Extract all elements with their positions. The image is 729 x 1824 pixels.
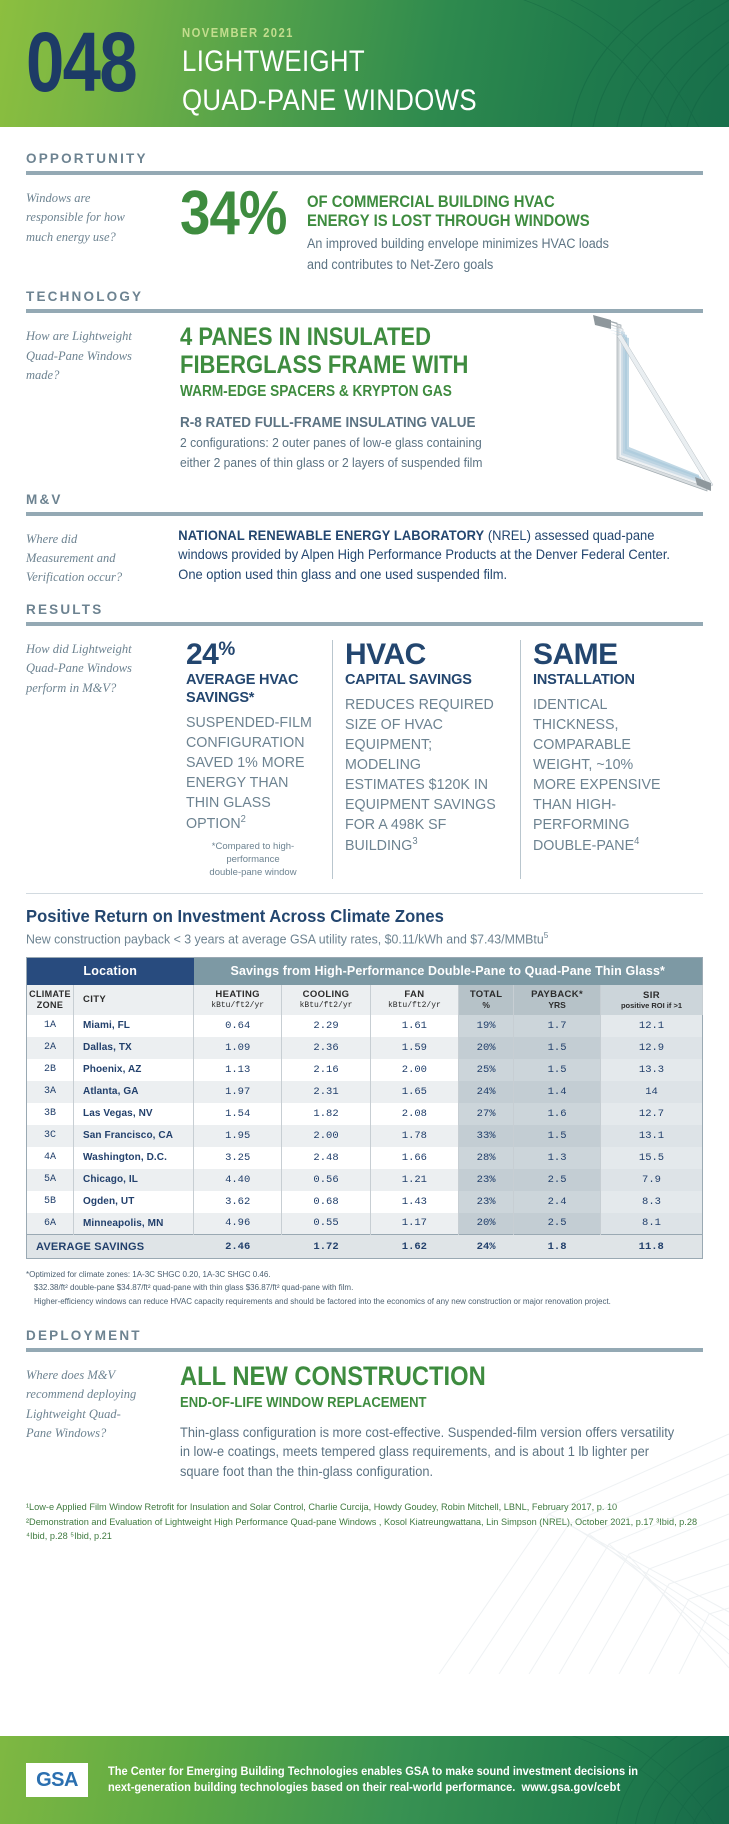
cell-heating: 3.62 xyxy=(194,1191,282,1213)
deployment-section: Where does M&V recommend deploying Light… xyxy=(26,1362,703,1482)
cell-climate-zone: 2A xyxy=(27,1037,74,1059)
deployment-question: Where does M&V recommend deploying Light… xyxy=(26,1362,146,1482)
table-body: 1AMiami, FL0.642.291.6119%1.712.12ADalla… xyxy=(27,1015,703,1235)
average-label: AVERAGE SAVINGS xyxy=(27,1235,194,1259)
cell-cooling: 0.55 xyxy=(282,1213,370,1235)
technology-question: How are Lightweight Quad-Pane Windows ma… xyxy=(26,323,146,472)
cell-payback: 1.3 xyxy=(514,1147,601,1169)
cell-payback: 1.4 xyxy=(514,1081,601,1103)
technology-section: How are Lightweight Quad-Pane Windows ma… xyxy=(26,323,703,472)
opportunity-sub-line1: An improved building envelope minimizes … xyxy=(307,235,609,252)
cell-fan: 1.21 xyxy=(370,1169,458,1191)
cell-city: Dallas, TX xyxy=(74,1037,194,1059)
average-heating: 2.46 xyxy=(194,1235,282,1259)
table-column-header-row: CLIMATE ZONE CITY HEATINGkBtu/ft2/yr COO… xyxy=(27,985,703,1015)
cell-fan: 1.78 xyxy=(370,1125,458,1147)
cell-payback: 1.6 xyxy=(514,1103,601,1125)
cell-city: Washington, D.C. xyxy=(74,1147,194,1169)
cell-fan: 1.43 xyxy=(370,1191,458,1213)
cell-payback: 1.7 xyxy=(514,1015,601,1037)
cell-total: 20% xyxy=(459,1213,514,1235)
deployment-body: Thin-glass configuration is more cost-ef… xyxy=(180,1423,677,1482)
technology-detail-line2: either 2 panes of thin glass or 2 layers… xyxy=(180,454,666,472)
section-label-deployment: DEPLOYMENT xyxy=(26,1328,703,1343)
cell-payback: 2.4 xyxy=(514,1191,601,1213)
results-subtitle-1a: AVERAGE HVAC xyxy=(186,672,320,688)
cell-cooling: 1.82 xyxy=(282,1103,370,1125)
cell-cooling: 2.31 xyxy=(282,1081,370,1103)
table-col-sir: SIRpositive ROI if >1 xyxy=(601,985,703,1015)
table-col-heating: HEATINGkBtu/ft2/yr xyxy=(194,985,282,1015)
footer-line1: The Center for Emerging Building Technol… xyxy=(108,1764,638,1780)
cell-climate-zone: 3C xyxy=(27,1125,74,1147)
table-group-header-row: Location Savings from High-Performance D… xyxy=(27,957,703,985)
results-column-savings: 24% AVERAGE HVAC SAVINGS* SUSPENDED-FILM… xyxy=(174,640,332,880)
cell-climate-zone: 3A xyxy=(27,1081,74,1103)
cell-total: 20% xyxy=(459,1037,514,1059)
cell-climate-zone: 2B xyxy=(27,1059,74,1081)
cell-total: 33% xyxy=(459,1125,514,1147)
footer-line2: next-generation building technologies ba… xyxy=(108,1780,638,1796)
results-text-3: IDENTICAL THICKNESS, COMPARABLE WEIGHT, … xyxy=(533,695,676,856)
section-label-results: RESULTS xyxy=(26,602,703,617)
cell-heating: 1.09 xyxy=(194,1037,282,1059)
results-subtitle-3a: INSTALLATION xyxy=(533,672,683,688)
gsa-logo-text: GSA xyxy=(36,1769,78,1792)
technology-rvalue: R-8 RATED FULL-FRAME INSULATING VALUE xyxy=(180,414,651,431)
footer-url[interactable]: www.gsa.gov/cebt xyxy=(521,1782,620,1794)
table-row: 4AWashington, D.C.3.252.481.6628%1.315.5 xyxy=(27,1147,703,1169)
cell-cooling: 2.00 xyxy=(282,1125,370,1147)
issue-number: 048 xyxy=(26,20,136,104)
average-payback: 1.8 xyxy=(514,1235,601,1259)
cell-heating: 1.95 xyxy=(194,1125,282,1147)
table-title: Positive Return on Investment Across Cli… xyxy=(26,906,669,927)
cell-city: Las Vegas, NV xyxy=(74,1103,194,1125)
table-col-climate-zone: CLIMATE ZONE xyxy=(27,985,74,1015)
cell-fan: 2.00 xyxy=(370,1059,458,1081)
cell-total: 27% xyxy=(459,1103,514,1125)
results-text-1: SUSPENDED-FILM CONFIGURATION SAVED 1% MO… xyxy=(186,713,313,834)
page-content: OPPORTUNITY Windows are responsible for … xyxy=(0,127,729,879)
opportunity-headline-line2: ENERGY IS LOST THROUGH WINDOWS xyxy=(307,212,599,231)
cell-fan: 2.08 xyxy=(370,1103,458,1125)
roi-table: Location Savings from High-Performance D… xyxy=(26,957,703,1260)
cell-total: 28% xyxy=(459,1147,514,1169)
cell-sir: 7.9 xyxy=(601,1169,703,1191)
results-column-hvac: HVAC CAPITAL SAVINGS REDUCES REQUIRED SI… xyxy=(332,640,520,880)
cell-city: Phoenix, AZ xyxy=(74,1059,194,1081)
cell-heating: 1.97 xyxy=(194,1081,282,1103)
results-text-2: REDUCES REQUIRED SIZE OF HVAC EQUIPMENT;… xyxy=(345,695,500,856)
section-rule xyxy=(26,512,703,516)
cell-sir: 8.3 xyxy=(601,1191,703,1213)
opportunity-stat: 34% xyxy=(180,185,287,242)
table-row: 3BLas Vegas, NV1.541.822.0827%1.612.7 xyxy=(27,1103,703,1125)
cell-cooling: 2.36 xyxy=(282,1037,370,1059)
page-header: 048 NOVEMBER 2021 LIGHTWEIGHT QUAD-PANE … xyxy=(0,0,729,127)
cell-heating: 4.40 xyxy=(194,1169,282,1191)
cell-payback: 1.5 xyxy=(514,1059,601,1081)
cell-sir: 14 xyxy=(601,1081,703,1103)
cell-fan: 1.66 xyxy=(370,1147,458,1169)
cell-fan: 1.61 xyxy=(370,1015,458,1037)
technology-subhead: WARM-EDGE SPACERS & KRYPTON GAS xyxy=(180,383,640,401)
cell-total: 24% xyxy=(459,1081,514,1103)
cell-climate-zone: 6A xyxy=(27,1213,74,1235)
cell-climate-zone: 4A xyxy=(27,1147,74,1169)
results-note-1: *Compared to high-performance double-pan… xyxy=(186,841,320,879)
cell-climate-zone: 5A xyxy=(27,1169,74,1191)
mv-section: Where did Measurement and Verification o… xyxy=(26,526,703,588)
table-col-payback: PAYBACK*YRS xyxy=(514,985,601,1015)
table-col-cooling: COOLINGkBtu/ft2/yr xyxy=(282,985,370,1015)
cell-heating: 1.13 xyxy=(194,1059,282,1081)
cell-sir: 13.3 xyxy=(601,1059,703,1081)
footer-text: The Center for Emerging Building Technol… xyxy=(108,1764,638,1797)
technology-headline-line2: FIBERGLASS FRAME WITH xyxy=(180,351,640,379)
results-subtitle-2a: CAPITAL SAVINGS xyxy=(345,672,508,688)
table-row: 1AMiami, FL0.642.291.6119%1.712.1 xyxy=(27,1015,703,1037)
average-cooling: 1.72 xyxy=(282,1235,370,1259)
cell-total: 25% xyxy=(459,1059,514,1081)
deployment-subhead: END-OF-LIFE WINDOW REPLACEMENT xyxy=(180,1395,651,1411)
table-footnote-2: $32.38/ft² double-pane $34.87/ft² quad-p… xyxy=(26,1281,703,1294)
page-footer: GSA The Center for Emerging Building Tec… xyxy=(0,1736,729,1824)
cell-city: Ogden, UT xyxy=(74,1191,194,1213)
page-title-line2: QUAD-PANE WINDOWS xyxy=(182,84,477,118)
cell-sir: 8.1 xyxy=(601,1213,703,1235)
table-row: 6AMinneapolis, MN4.960.551.1720%2.58.1 xyxy=(27,1213,703,1235)
cell-sir: 13.1 xyxy=(601,1125,703,1147)
opportunity-sub-line2: and contributes to Net-Zero goals xyxy=(307,256,609,273)
results-column-installation: SAME INSTALLATION IDENTICAL THICKNESS, C… xyxy=(520,640,695,880)
publication-date: NOVEMBER 2021 xyxy=(182,26,491,40)
cell-payback: 2.5 xyxy=(514,1169,601,1191)
table-col-fan: FANkBtu/ft2/yr xyxy=(370,985,458,1015)
table-head: Location Savings from High-Performance D… xyxy=(27,957,703,1015)
table-col-total: TOTAL% xyxy=(459,985,514,1015)
section-label-technology: TECHNOLOGY xyxy=(26,289,703,304)
average-total: 24% xyxy=(459,1235,514,1259)
table-row: 3AAtlanta, GA1.972.311.6524%1.414 xyxy=(27,1081,703,1103)
cell-total: 19% xyxy=(459,1015,514,1037)
cell-sir: 12.9 xyxy=(601,1037,703,1059)
table-subtitle: New construction payback < 3 years at av… xyxy=(26,930,669,946)
reference-2: ²Demonstration and Evaluation of Lightwe… xyxy=(26,1515,703,1545)
opportunity-headline-line1: OF COMMERCIAL BUILDING HVAC xyxy=(307,193,599,212)
references-list: ¹Low-e Applied Film Window Retrofit for … xyxy=(0,1500,729,1545)
cell-cooling: 0.68 xyxy=(282,1191,370,1213)
cell-payback: 1.5 xyxy=(514,1037,601,1059)
roi-table-section: Positive Return on Investment Across Cli… xyxy=(0,894,729,1307)
table-row: 3CSan Francisco, CA1.952.001.7833%1.513.… xyxy=(27,1125,703,1147)
cell-climate-zone: 3B xyxy=(27,1103,74,1125)
cell-cooling: 0.56 xyxy=(282,1169,370,1191)
section-label-opportunity: OPPORTUNITY xyxy=(26,151,703,166)
cell-sir: 15.5 xyxy=(601,1147,703,1169)
mv-paragraph: NATIONAL RENEWABLE ENERGY LABORATORY (NR… xyxy=(146,526,675,585)
infographic-page: 048 NOVEMBER 2021 LIGHTWEIGHT QUAD-PANE … xyxy=(0,0,729,1824)
section-rule xyxy=(26,622,703,626)
table-group-header-location: Location xyxy=(27,957,194,985)
cell-heating: 0.64 xyxy=(194,1015,282,1037)
cell-sir: 12.7 xyxy=(601,1103,703,1125)
results-section: How did Lightweight Quad-Pane Windows pe… xyxy=(26,636,703,880)
technology-headline-line1: 4 PANES IN INSULATED xyxy=(180,323,640,351)
average-sir: 11.8 xyxy=(601,1235,703,1259)
results-stat-1: 24% xyxy=(186,640,320,670)
gsa-logo: GSA xyxy=(26,1763,88,1797)
deployment-wrapper: DEPLOYMENT Where does M&V recommend depl… xyxy=(0,1308,729,1482)
cell-heating: 3.25 xyxy=(194,1147,282,1169)
cell-sir: 12.1 xyxy=(601,1015,703,1037)
table-footnotes: *Optimized for climate zones: 1A-3C SHGC… xyxy=(26,1268,703,1308)
reference-1: ¹Low-e Applied Film Window Retrofit for … xyxy=(26,1500,703,1515)
table-row: 5BOgden, UT3.620.681.4323%2.48.3 xyxy=(27,1191,703,1213)
cell-cooling: 2.29 xyxy=(282,1015,370,1037)
cell-city: San Francisco, CA xyxy=(74,1125,194,1147)
cell-payback: 2.5 xyxy=(514,1213,601,1235)
cell-climate-zone: 5B xyxy=(27,1191,74,1213)
cell-climate-zone: 1A xyxy=(27,1015,74,1037)
table-footnote-1: *Optimized for climate zones: 1A-3C SHGC… xyxy=(26,1268,703,1281)
opportunity-section: Windows are responsible for how much ene… xyxy=(26,185,703,273)
table-row: 2ADallas, TX1.092.361.5920%1.512.9 xyxy=(27,1037,703,1059)
cell-heating: 1.54 xyxy=(194,1103,282,1125)
table-col-city: CITY xyxy=(74,985,194,1015)
section-rule xyxy=(26,1348,703,1352)
table-average-row: AVERAGE SAVINGS 2.46 1.72 1.62 24% 1.8 1… xyxy=(27,1235,703,1259)
cell-city: Atlanta, GA xyxy=(74,1081,194,1103)
table-row: 2BPhoenix, AZ1.132.162.0025%1.513.3 xyxy=(27,1059,703,1081)
results-question: How did Lightweight Quad-Pane Windows pe… xyxy=(26,636,146,880)
cell-payback: 1.5 xyxy=(514,1125,601,1147)
section-rule xyxy=(26,171,703,175)
cell-city: Chicago, IL xyxy=(74,1169,194,1191)
results-stat-3: SAME xyxy=(533,640,683,670)
cell-city: Miami, FL xyxy=(74,1015,194,1037)
cell-total: 23% xyxy=(459,1169,514,1191)
table-row: 5AChicago, IL4.400.561.2123%2.57.9 xyxy=(27,1169,703,1191)
page-title-line1: LIGHTWEIGHT xyxy=(182,45,477,79)
cell-total: 23% xyxy=(459,1191,514,1213)
cell-fan: 1.59 xyxy=(370,1037,458,1059)
cell-fan: 1.65 xyxy=(370,1081,458,1103)
average-fan: 1.62 xyxy=(370,1235,458,1259)
technology-detail-line1: 2 configurations: 2 outer panes of low-e… xyxy=(180,434,666,452)
cell-fan: 1.17 xyxy=(370,1213,458,1235)
opportunity-question: Windows are responsible for how much ene… xyxy=(26,185,146,273)
cell-cooling: 2.16 xyxy=(282,1059,370,1081)
table-group-header-savings: Savings from High-Performance Double-Pan… xyxy=(194,957,703,985)
mv-question: Where did Measurement and Verification o… xyxy=(26,526,146,588)
mv-lead: NATIONAL RENEWABLE ENERGY LABORATORY xyxy=(178,528,484,543)
results-subtitle-1b: SAVINGS* xyxy=(186,690,320,706)
table-footnote-3: Higher-efficiency windows can reduce HVA… xyxy=(26,1295,703,1308)
table-foot: AVERAGE SAVINGS 2.46 1.72 1.62 24% 1.8 1… xyxy=(27,1235,703,1259)
deployment-headline: ALL NEW CONSTRUCTION xyxy=(180,1362,640,1391)
cell-heating: 4.96 xyxy=(194,1213,282,1235)
results-stat-2: HVAC xyxy=(345,640,508,670)
cell-city: Minneapolis, MN xyxy=(74,1213,194,1235)
cell-cooling: 2.48 xyxy=(282,1147,370,1169)
